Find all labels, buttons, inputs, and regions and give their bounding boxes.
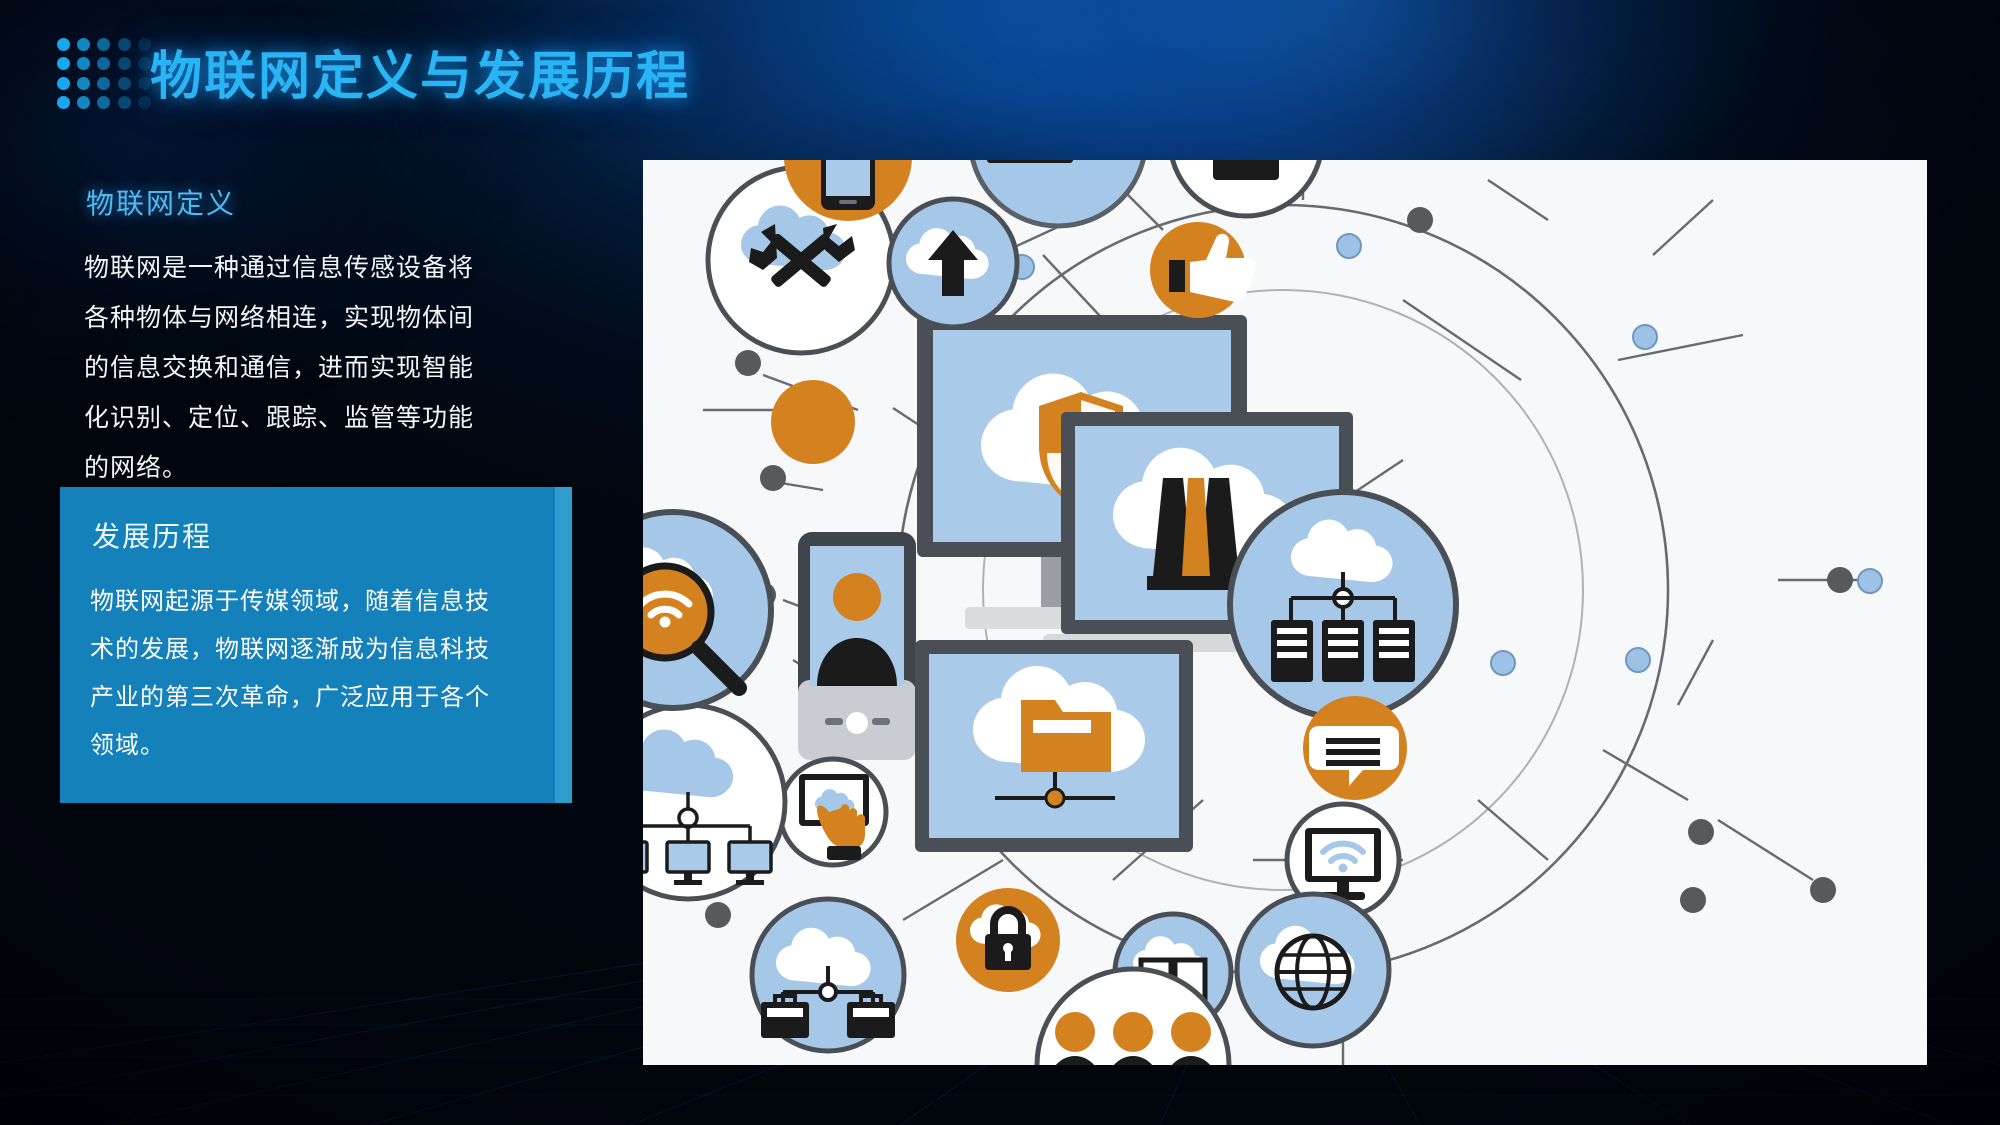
- dot: [57, 38, 70, 51]
- cloud-lock-icon: [956, 888, 1060, 992]
- definition-heading: 物联网定义: [86, 185, 236, 223]
- dot: [97, 96, 110, 109]
- iot-illustration-panel: [643, 160, 1927, 1065]
- chat-bubble-icon: [1303, 696, 1407, 800]
- cloud-briefcase-icon: [752, 899, 904, 1051]
- dot: [138, 57, 151, 70]
- iot-network-diagram: [643, 160, 1927, 1065]
- dot: [118, 57, 131, 70]
- tap-tablet-icon: [780, 759, 886, 865]
- smartphone-user-icon: [798, 532, 916, 760]
- cloud-globe-icon: [1237, 894, 1389, 1046]
- dot: [57, 57, 70, 70]
- slide-root: 物联网定义与发展历程 物联网定义 物联网是一种通过信息传感设备将各种物体与网络相…: [0, 0, 2000, 1125]
- dot-grid-icon: [57, 38, 155, 112]
- history-heading: 发展历程: [92, 518, 212, 556]
- cloud-upload-icon: [889, 199, 1017, 327]
- dot: [138, 96, 151, 109]
- dot: [138, 77, 151, 90]
- dot: [77, 96, 90, 109]
- orange-node: [771, 380, 855, 464]
- dot: [77, 77, 90, 90]
- dot: [77, 38, 90, 51]
- definition-body: 物联网是一种通过信息传感设备将各种物体与网络相连，实现物体间的信息交换和通信，进…: [84, 243, 484, 493]
- history-panel-edge: [555, 487, 572, 803]
- history-body: 物联网起源于传媒领域，随着信息技术的发展，物联网逐渐成为信息科技产业的第三次革命…: [90, 577, 490, 769]
- dot: [57, 77, 70, 90]
- dot: [57, 96, 70, 109]
- dot: [77, 57, 90, 70]
- cloud-servers-icon: [1230, 492, 1456, 718]
- history-panel: 发展历程 物联网起源于传媒领域，随着信息技术的发展，物联网逐渐成为信息科技产业的…: [60, 487, 572, 803]
- dot: [138, 38, 151, 51]
- page-title: 物联网定义与发展历程: [150, 42, 690, 112]
- dot: [118, 96, 131, 109]
- tablet-folder-icon: [915, 640, 1193, 852]
- dot: [118, 38, 131, 51]
- dot: [97, 38, 110, 51]
- dot: [97, 77, 110, 90]
- dot: [118, 77, 131, 90]
- dot: [97, 57, 110, 70]
